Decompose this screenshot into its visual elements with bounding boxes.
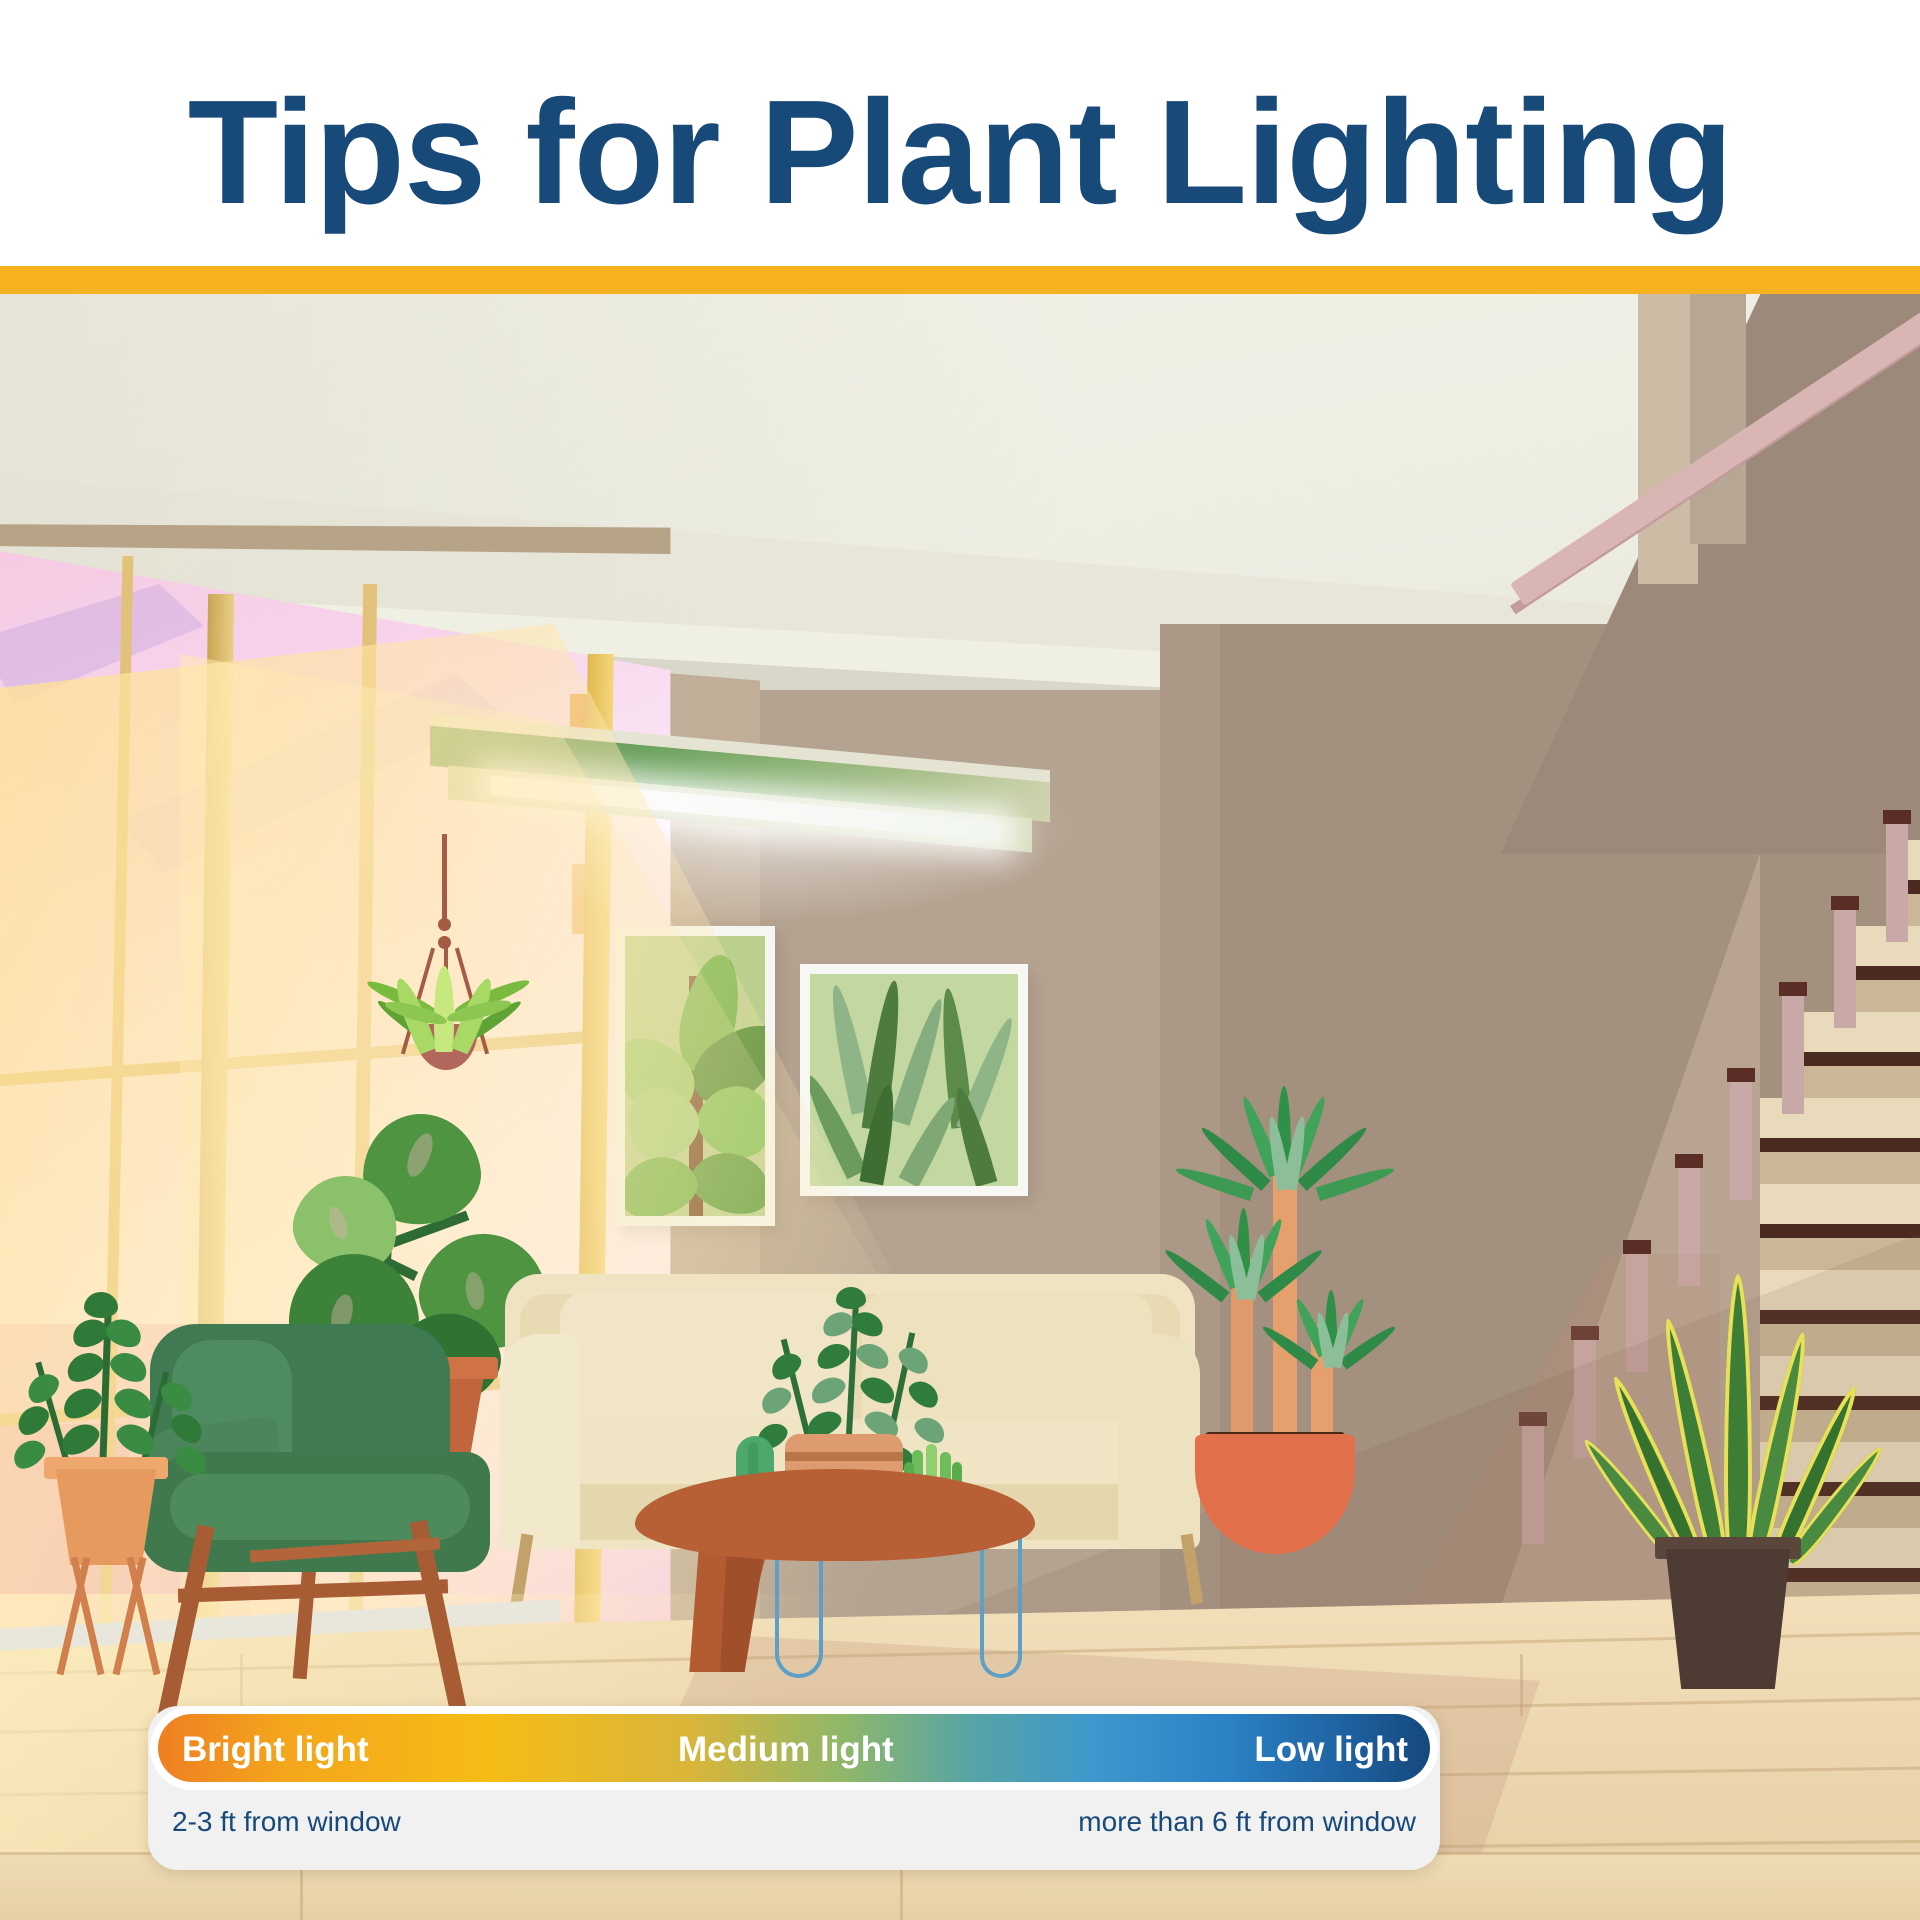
light-level-legend: Bright light Medium light Low light 2-3 … (148, 1706, 1440, 1870)
legend-sub-bright: 2-3 ft from window (172, 1806, 401, 1838)
baluster-cap (1675, 1154, 1703, 1168)
snake-plant-pot (1663, 1549, 1793, 1689)
stair-column (1638, 294, 1698, 584)
legend-label-medium: Medium light (678, 1730, 894, 1770)
hanging-spider-plant (380, 834, 580, 1074)
legend-label-bright: Bright light (182, 1730, 369, 1770)
baluster-cap (1623, 1240, 1651, 1254)
yucca-palm (1175, 1084, 1395, 1454)
baluster-cap (1883, 810, 1911, 824)
legend-sub-low: more than 6 ft from window (1078, 1806, 1416, 1838)
room-illustration (0, 294, 1920, 1920)
pot-stripe (785, 1452, 903, 1461)
stair-baluster (1834, 908, 1856, 1028)
stair-nosing (1798, 1052, 1920, 1066)
baluster-cap (1779, 982, 1807, 996)
stair-baluster (1886, 822, 1908, 942)
stair-nosing (1754, 1138, 1920, 1152)
page-title: Tips for Plant Lighting (0, 78, 1920, 228)
print-canvas (810, 974, 1018, 1186)
infographic-page: Tips for Plant Lighting (0, 0, 1920, 1920)
legend-label-low: Low light (1254, 1730, 1408, 1770)
stair-column (1690, 294, 1746, 544)
snake-plant (1620, 1274, 1850, 1574)
stair-baluster (1730, 1080, 1752, 1200)
baluster-cap (1831, 896, 1859, 910)
stair-baluster (1782, 994, 1804, 1114)
framed-grass-print (800, 964, 1028, 1196)
sofa-armrest (500, 1334, 580, 1549)
baluster-cap (1727, 1068, 1755, 1082)
light-gradient-bar[interactable]: Bright light Medium light Low light (158, 1714, 1430, 1782)
accent-divider-bar (0, 266, 1920, 294)
header: Tips for Plant Lighting (0, 0, 1920, 266)
